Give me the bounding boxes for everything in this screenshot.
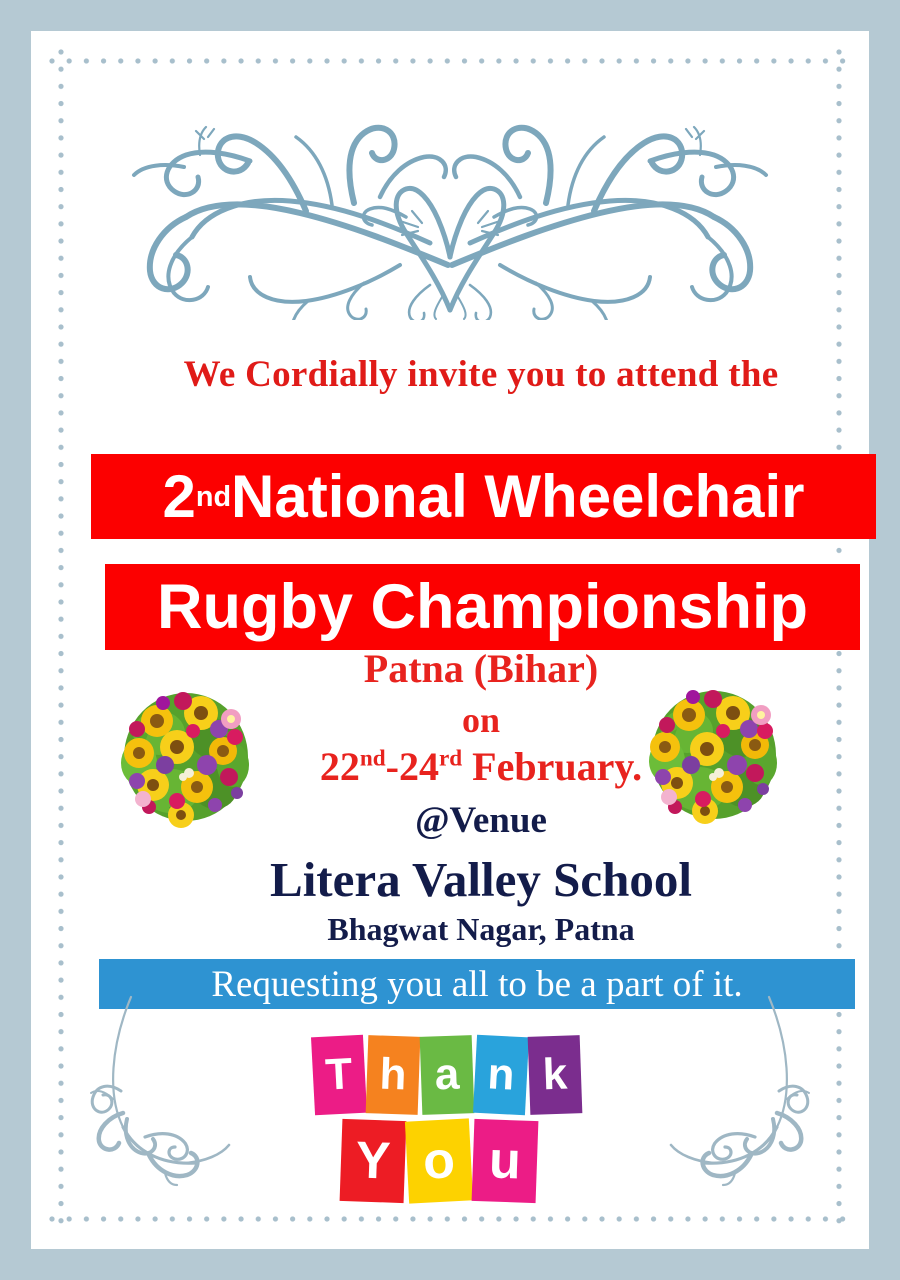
corner-flourish-bottom-right-icon xyxy=(667,987,817,1187)
corner-flourish-bottom-left-icon xyxy=(83,987,233,1187)
invitation-poster: We Cordially invite you to attend the 2n… xyxy=(0,0,900,1280)
event-date-month: February. xyxy=(462,744,642,789)
thank-you-tile-letter: n xyxy=(486,1052,515,1097)
thank-you-tile-y: Y xyxy=(340,1119,407,1203)
dotted-border-left xyxy=(58,49,64,1231)
venue-name: Litera Valley School xyxy=(31,851,900,908)
invitation-card: We Cordially invite you to attend the 2n… xyxy=(31,31,869,1249)
thank-you-tile-k: k xyxy=(528,1035,583,1115)
thank-you-tile-u: u xyxy=(472,1119,539,1203)
thank-you-tile-letter: k xyxy=(542,1053,568,1098)
event-date-separator: - xyxy=(386,744,399,789)
thank-you-tile-o: o xyxy=(405,1118,473,1203)
title-line2-text: Rugby Championship xyxy=(157,576,808,639)
event-date-day1-suffix: nd xyxy=(360,746,386,772)
request-text: Requesting you all to be a part of it. xyxy=(211,966,742,1003)
venue-label: @Venue xyxy=(31,799,900,842)
title-banner-line2: Rugby Championship xyxy=(105,564,860,650)
thank-you-tile-a: a xyxy=(420,1035,475,1115)
venue-address: Bhagwat Nagar, Patna xyxy=(31,911,900,948)
thank-you-tile-t: T xyxy=(311,1035,367,1116)
event-date: 22nd-24rd February. xyxy=(31,743,900,790)
thank-you-tile-n: n xyxy=(473,1035,529,1116)
invite-line: We Cordially invite you to attend the xyxy=(31,353,900,396)
dotted-border-top xyxy=(49,58,851,64)
thank-you-tile-letter: a xyxy=(434,1053,460,1098)
event-on-label: on xyxy=(31,699,900,741)
thank-you-tile-letter: h xyxy=(379,1053,407,1098)
thank-you-tile-h: h xyxy=(366,1035,421,1115)
title-line1-prefix: 2 xyxy=(162,467,195,527)
event-date-day1: 22 xyxy=(320,744,360,789)
thank-you-tile-letter: u xyxy=(488,1134,522,1187)
thank-you-tile-letter: T xyxy=(324,1052,353,1097)
event-date-day2-suffix: rd xyxy=(439,746,462,772)
thank-you-tile-letter: o xyxy=(422,1134,456,1188)
thank-you-row-thank: Thank xyxy=(313,1036,583,1114)
dotted-border-bottom xyxy=(49,1216,851,1222)
title-line1-rest: National Wheelchair xyxy=(231,467,804,527)
thank-you-tile-letter: Y xyxy=(355,1134,391,1187)
thank-you-row-you: You xyxy=(341,1120,539,1202)
event-date-day2: 24 xyxy=(399,744,439,789)
floral-swirl-ornament-icon xyxy=(100,105,800,320)
thank-you-graphic: Thank You xyxy=(305,1036,595,1206)
event-city: Patna (Bihar) xyxy=(31,645,900,692)
title-banner-line1: 2nd National Wheelchair xyxy=(91,454,876,539)
